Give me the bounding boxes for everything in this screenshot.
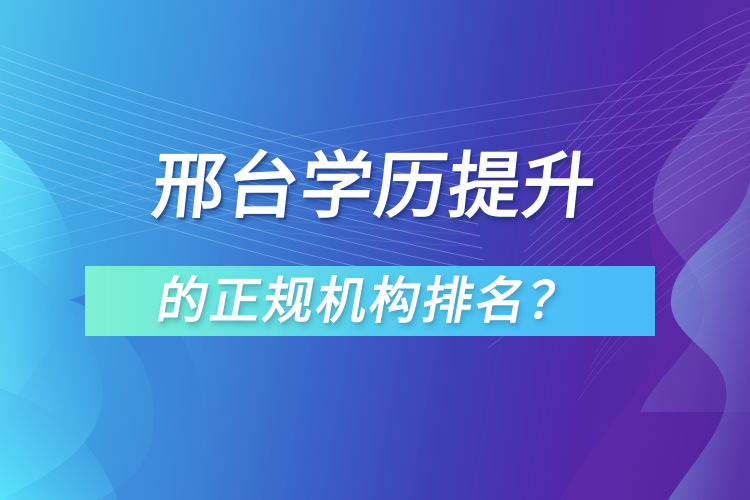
light-blue-wave-right xyxy=(668,0,750,500)
background-decoration xyxy=(0,0,750,500)
subtitle-bar: 的正规机构排名？ xyxy=(85,266,655,336)
banner-subtitle: 的正规机构排名？ xyxy=(154,276,587,326)
cyan-wave-bottom-left xyxy=(0,388,118,500)
banner-headline: 邢台学历提升 xyxy=(149,150,601,222)
promo-banner: 邢台学历提升 的正规机构排名？ xyxy=(0,0,750,500)
purple-wave-right xyxy=(560,0,750,500)
headline-container: 邢台学历提升 xyxy=(0,150,750,222)
light-blue-wave-right-2 xyxy=(640,60,750,412)
